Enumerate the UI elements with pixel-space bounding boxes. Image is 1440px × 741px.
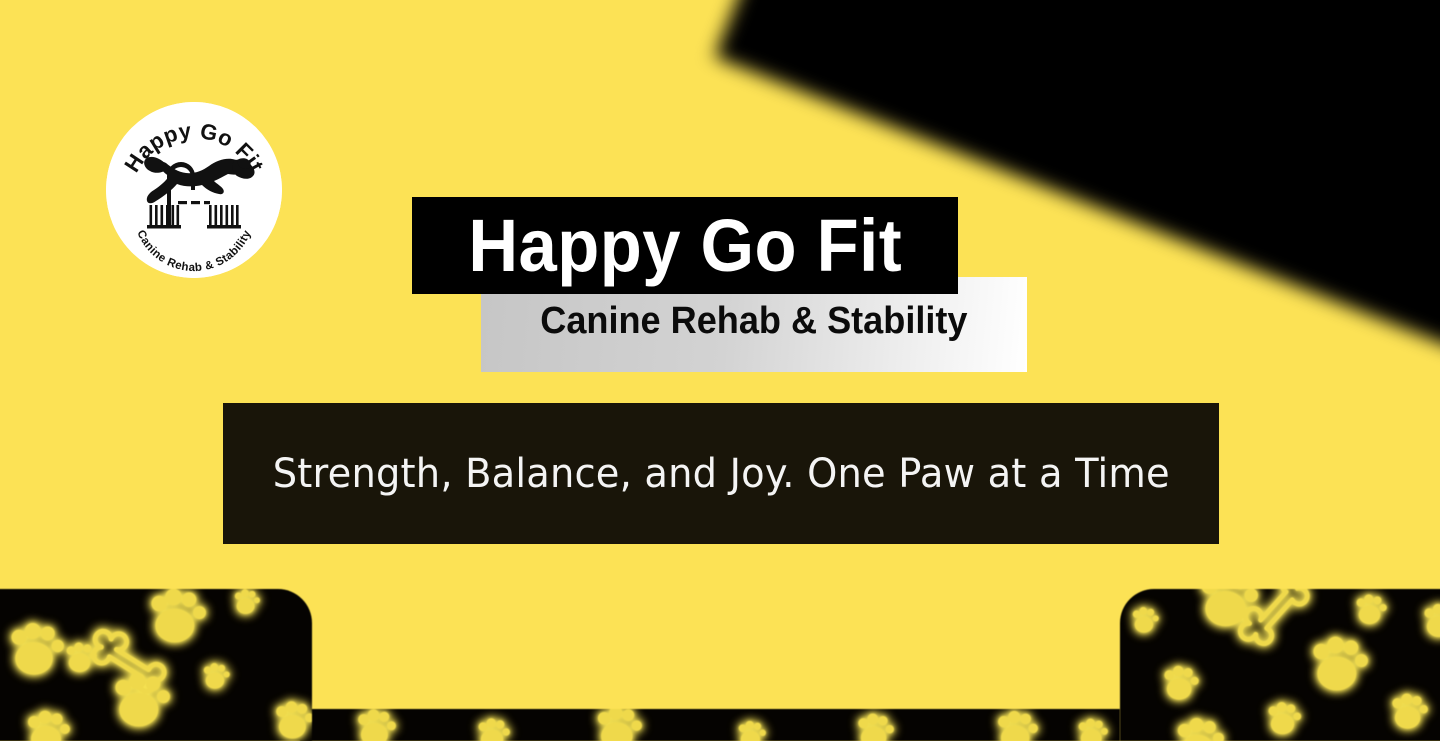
- paw-print-pattern-right: [1120, 589, 1440, 741]
- paw-print-icon: [1133, 607, 1159, 633]
- paw-print-icon: [1164, 666, 1198, 700]
- paw-print-icon: [1392, 694, 1428, 729]
- paw-print-icon: [1079, 719, 1108, 741]
- poster-canvas: Happy Go Fit Canine Rehab & Stability: [0, 0, 1440, 741]
- paw-print-icon: [1268, 702, 1301, 734]
- paw-print-icon: [1178, 718, 1224, 741]
- title-banner: Happy Go Fit: [412, 197, 958, 294]
- tagline-text: Strength, Balance, and Joy. One Paw at a…: [272, 454, 1169, 494]
- paw-print-icon: [598, 709, 642, 741]
- paw-print-pattern-center: [300, 709, 1120, 741]
- happy-go-fit-logo: Happy Go Fit Canine Rehab & Stability: [106, 102, 282, 278]
- paw-print-icon: [12, 623, 65, 675]
- paw-print-icon: [151, 589, 206, 643]
- paw-print-icon: [858, 714, 894, 741]
- paw-print-icon: [28, 711, 70, 741]
- paw-print-icon: [276, 701, 312, 738]
- paw-print-icon: [235, 589, 260, 614]
- paw-print-icon: [1424, 604, 1440, 637]
- paw-print-icon: [1357, 594, 1387, 624]
- paw-print-icon: [739, 721, 766, 741]
- paw-print-icon: [998, 711, 1038, 741]
- paw-print-icon: [358, 709, 396, 741]
- paw-print-icon: [479, 718, 511, 741]
- paw-print-pattern-left: [0, 589, 312, 741]
- tagline-banner: Strength, Balance, and Joy. One Paw at a…: [223, 403, 1219, 544]
- page-subtitle: Canine Rehab & Stability: [540, 302, 967, 340]
- page-title: Happy Go Fit: [468, 209, 902, 283]
- paw-print-icon: [204, 663, 230, 689]
- bone-icon: [1233, 589, 1313, 652]
- paw-print-icon: [1313, 637, 1368, 691]
